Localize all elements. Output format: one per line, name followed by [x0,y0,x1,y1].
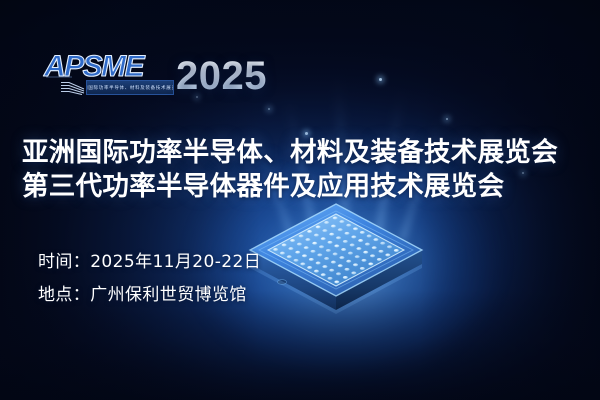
event-date-label: 时间： [38,252,90,272]
event-date-value: 2025年11月20-22日 [90,252,261,272]
event-venue-value: 广州保利世贸博览馆 [90,285,247,305]
title-line-2: 第三代功率半导体器件及应用技术展览会 [22,170,582,204]
particle-dot [305,132,308,135]
logo-banner-plate: 亚洲国际功率半导体、材料及装备技术展览会 [86,80,174,95]
year-label: 2025 [176,54,267,99]
title-block: 亚洲国际功率半导体、材料及装备技术展览会 第三代功率半导体器件及应用技术展览会 [22,136,582,204]
event-info-block: 时间：2025年11月20-22日 地点：广州保利世贸博览馆 [38,246,261,312]
logo-stripes-icon [60,80,86,95]
particle-dot [446,118,448,120]
poster-canvas: APSME 亚洲国际功率半导体、材料及装备技术展览会 2025 亚洲国际功 [0,0,600,400]
event-venue-label: 地点： [38,285,90,305]
particle-dot [379,78,382,81]
apsme-logo: APSME 亚洲国际功率半导体、材料及装备技术展览会 [42,46,174,102]
logo-banner-bar: 亚洲国际功率半导体、材料及装备技术展览会 [60,80,174,95]
title-line-1: 亚洲国际功率半导体、材料及装备技术展览会 [22,136,582,170]
svg-text:APSME: APSME [43,50,146,83]
logo-banner-text: 亚洲国际功率半导体、材料及装备技术展览会 [86,84,174,90]
event-venue-line: 地点：广州保利世贸博览馆 [38,279,261,312]
particle-dot [268,108,270,110]
event-date-line: 时间：2025年11月20-22日 [38,246,261,279]
